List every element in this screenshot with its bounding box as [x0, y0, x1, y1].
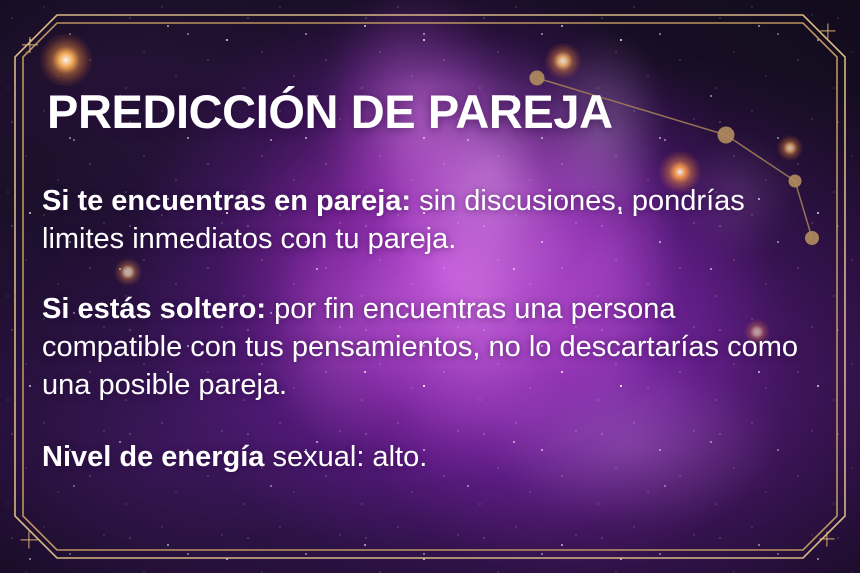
text-content: PREDICCIÓN DE PAREJA Si te encuentras en… [42, 88, 812, 477]
glow-star-topleft [40, 34, 91, 85]
node-1 [530, 71, 545, 86]
page-title: PREDICCIÓN DE PAREJA [47, 88, 812, 135]
sparkle-bottom-left [21, 532, 38, 549]
sparkle-bottom-right [820, 532, 835, 547]
glow-star-upper [545, 43, 580, 78]
prediction-card: PREDICCIÓN DE PAREJA Si te encuentras en… [0, 0, 860, 573]
paragraph-energia: Nivel de energía sexual: alto. [42, 439, 812, 477]
paragraph-soltero: Si estás soltero: por fin encuentras una… [42, 291, 812, 405]
paragraph-energia-body: sexual: alto. [264, 441, 427, 473]
paragraph-pareja-lead: Si te encuentras en pareja: [42, 185, 411, 217]
paragraph-pareja: Si te encuentras en pareja: sin discusio… [42, 183, 812, 259]
sparkle-top-right [821, 24, 836, 39]
paragraph-energia-lead: Nivel de energía [42, 441, 264, 473]
sparkle-top-left [22, 37, 38, 53]
paragraph-soltero-lead: Si estás soltero: [42, 293, 266, 325]
